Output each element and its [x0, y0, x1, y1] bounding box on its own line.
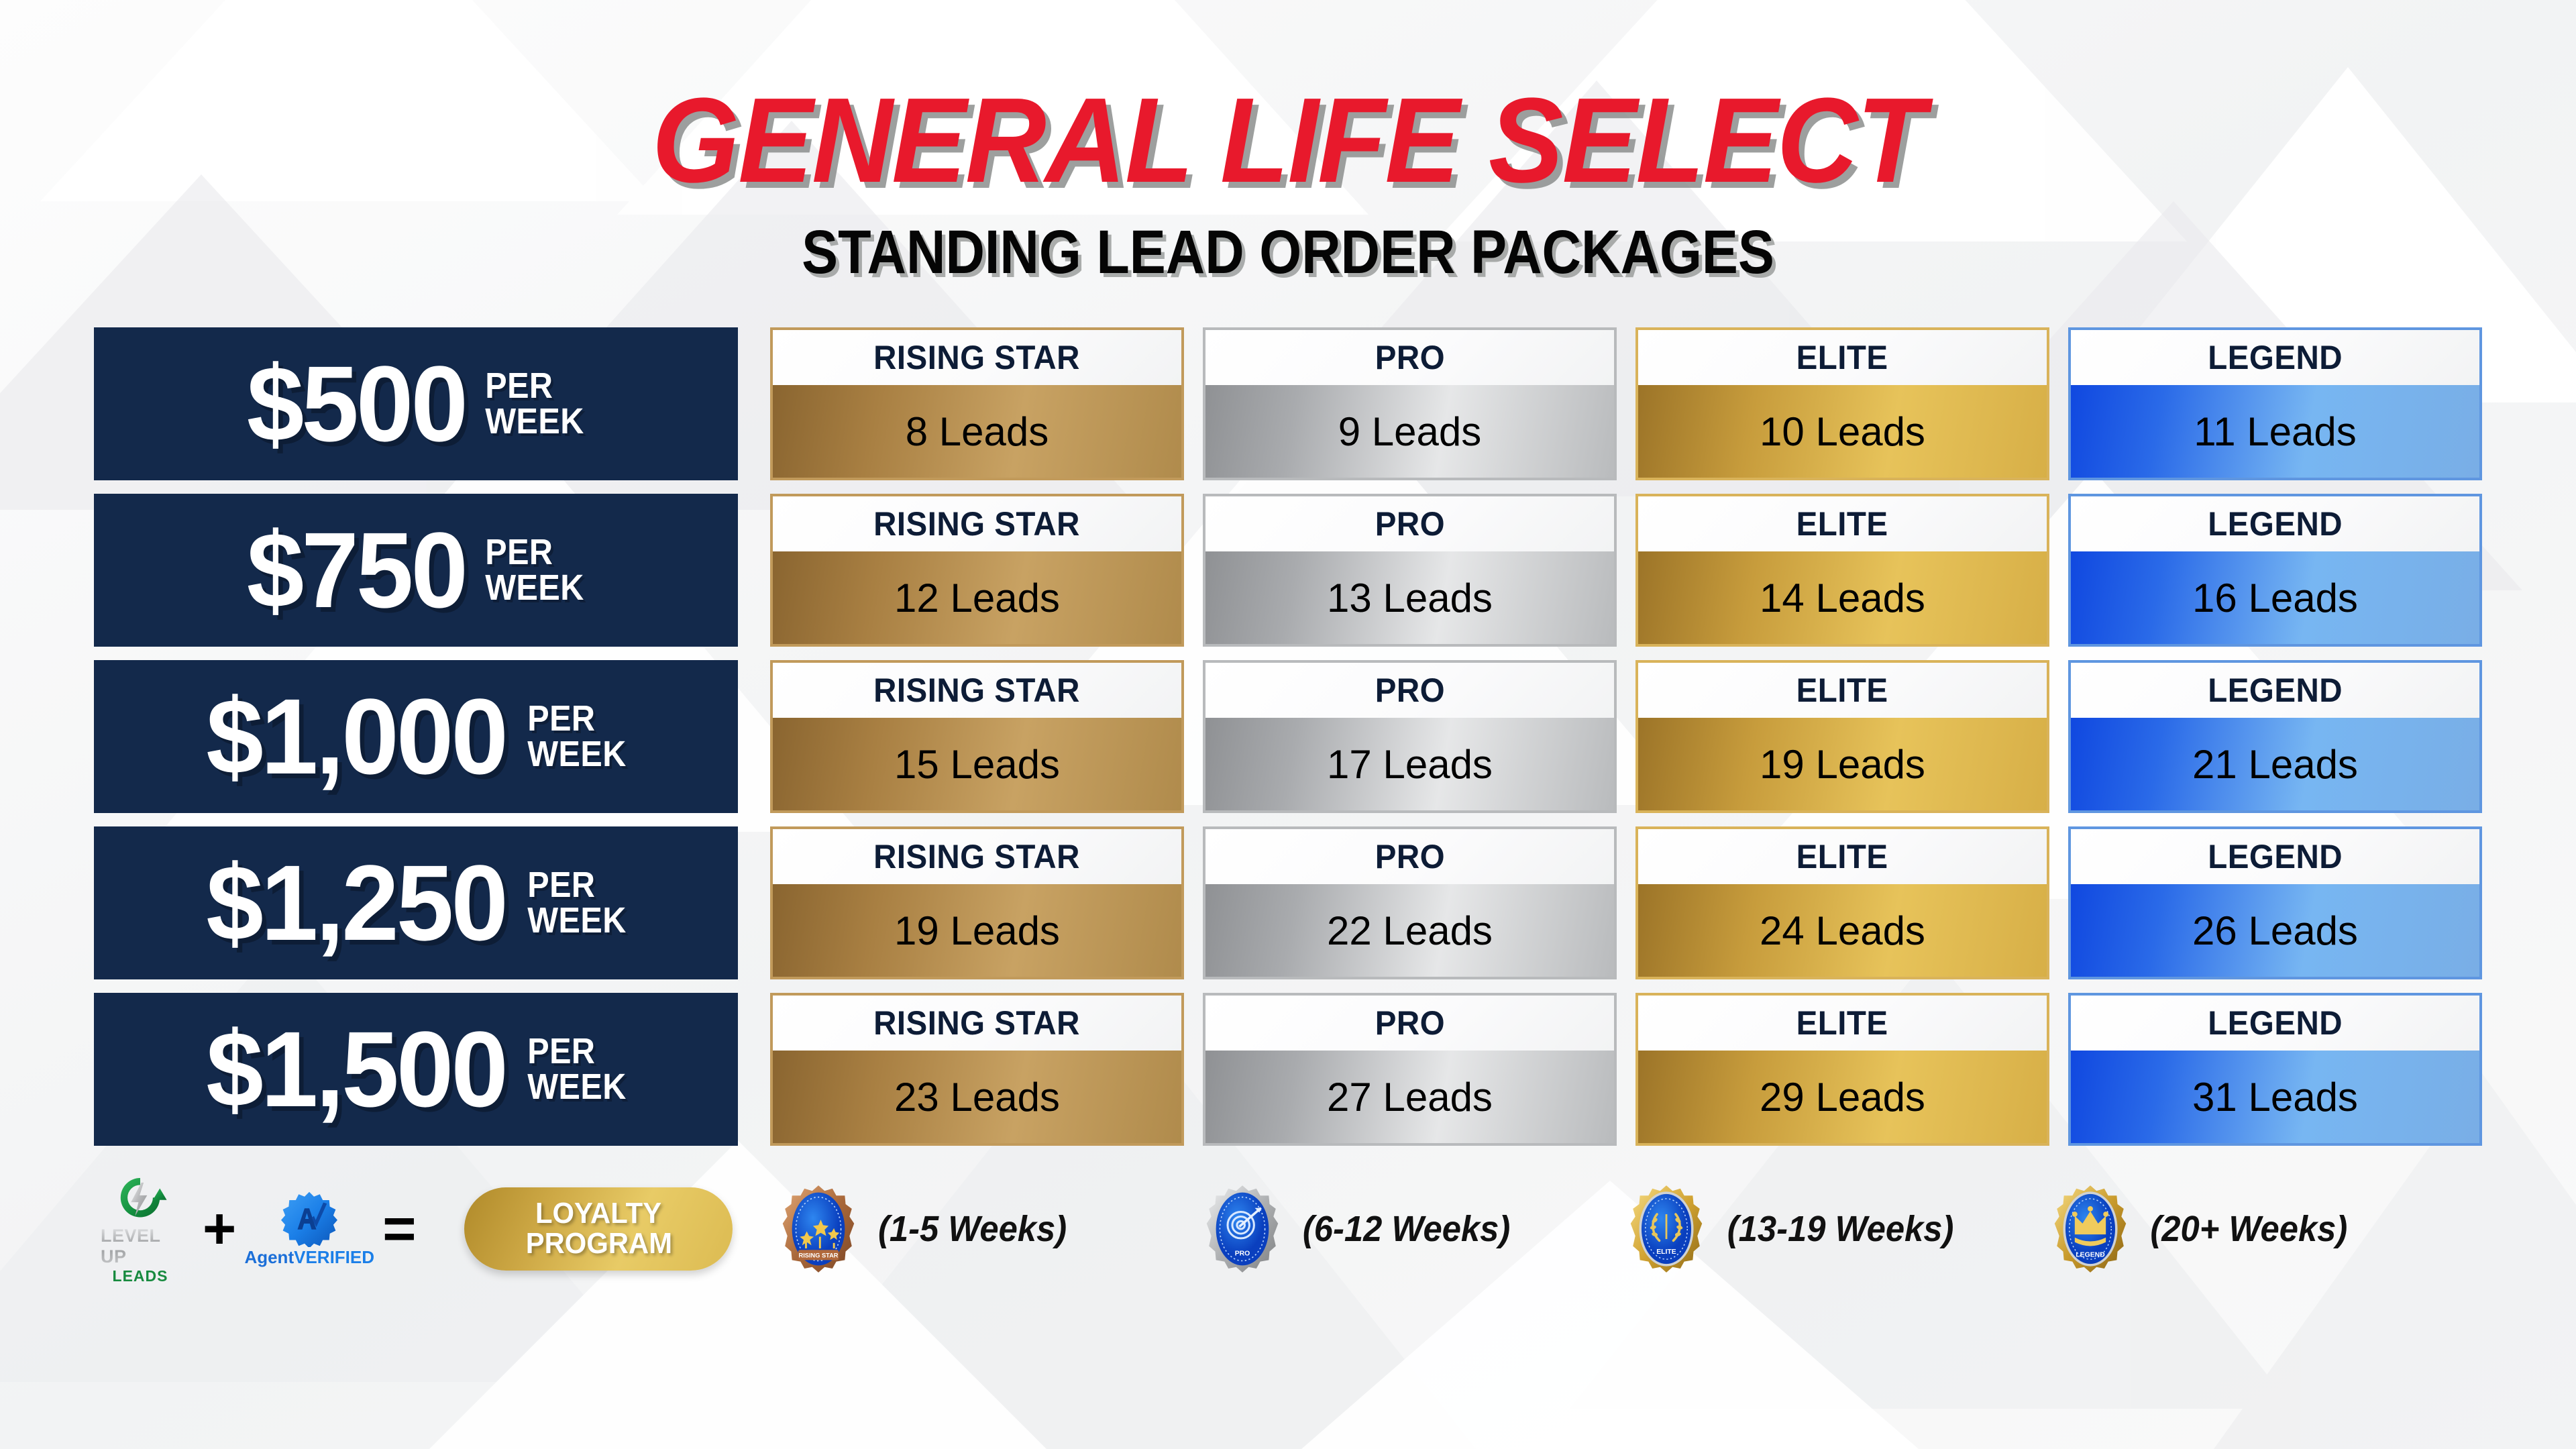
rising-star-badge-text: RISING STAR — [799, 1252, 839, 1258]
tier-card-title: ELITE — [1796, 1004, 1888, 1042]
price-period-line2: WEEK — [527, 1069, 627, 1105]
tier-card-body: 19 Leads — [1638, 718, 2047, 810]
tier-card-pro[interactable]: PRO 22 Leads — [1203, 826, 1617, 979]
rank-item-legend[interactable]: LEGEND (20+ Weeks) — [2051, 1185, 2475, 1273]
tier-card-body: 21 Leads — [2071, 718, 2479, 810]
tier-card-body: 9 Leads — [1205, 385, 1614, 478]
tier-card-header: LEGEND — [2071, 496, 2479, 551]
tier-card-pro[interactable]: PRO 9 Leads — [1203, 327, 1617, 480]
tier-card-title: LEGEND — [2208, 671, 2343, 710]
page-subtitle: STANDING LEAD ORDER PACKAGES — [154, 221, 2421, 283]
tier-card-legend[interactable]: LEGEND 11 Leads — [2068, 327, 2482, 480]
table-row: $1,000 PER WEEK RISING STAR 15 Leads — [94, 660, 2482, 813]
tier-card-elite[interactable]: ELITE 19 Leads — [1635, 660, 2049, 813]
equals-operator: = — [382, 1206, 416, 1252]
tier-card-body: 11 Leads — [2071, 385, 2479, 478]
tier-card-title: RISING STAR — [874, 1004, 1081, 1042]
tier-card-leads: 17 Leads — [1327, 741, 1493, 788]
tier-card-rising-star[interactable]: RISING STAR 12 Leads — [770, 494, 1184, 647]
price-period: PER WEEK — [485, 368, 584, 439]
infographic-page: GENERAL LIFE SELECT STANDING LEAD ORDER … — [0, 0, 2576, 1449]
pro-medal-icon: PRO — [1203, 1185, 1281, 1273]
price-cell[interactable]: $750 PER WEEK — [94, 494, 738, 647]
tier-card-header: ELITE — [1638, 663, 2047, 718]
tier-card-header: PRO — [1205, 496, 1614, 551]
rank-weeks-label: (20+ Weeks) — [2151, 1208, 2348, 1250]
tier-card-leads: 21 Leads — [2192, 741, 2358, 788]
tier-card-title: LEGEND — [2208, 504, 2343, 543]
agent-verified-logo[interactable]: AgentVERIFIED — [259, 1191, 360, 1268]
table-row: $1,250 PER WEEK RISING STAR 19 Leads — [94, 826, 2482, 979]
price-amount: $750 — [247, 517, 466, 624]
price-period: PER WEEK — [527, 701, 627, 772]
tier-card-title: ELITE — [1796, 338, 1888, 377]
tier-card-body: 29 Leads — [1638, 1051, 2047, 1143]
blue-starburst-av-badge-icon — [280, 1191, 339, 1247]
tier-card-body: 19 Leads — [773, 884, 1181, 977]
tier-card-title: PRO — [1375, 338, 1444, 377]
tier-card-title: RISING STAR — [874, 837, 1081, 876]
tier-card-header: PRO — [1205, 330, 1614, 385]
rising-star-medal-icon: RISING STAR — [780, 1185, 857, 1273]
tier-card-body: 14 Leads — [1638, 551, 2047, 644]
tier-card-body: 31 Leads — [2071, 1051, 2479, 1143]
price-cell[interactable]: $1,000 PER WEEK — [94, 660, 738, 813]
price-amount: $500 — [247, 350, 466, 458]
tier-cards: RISING STAR 12 Leads PRO 13 Leads — [770, 494, 2482, 647]
tier-card-header: ELITE — [1638, 496, 2047, 551]
tier-card-leads: 12 Leads — [894, 575, 1060, 621]
agent-verified-label: AgentVERIFIED — [244, 1247, 374, 1268]
tier-card-body: 22 Leads — [1205, 884, 1614, 977]
tier-card-leads: 19 Leads — [894, 908, 1060, 954]
legend-medal-icon: LEGEND — [2051, 1185, 2129, 1273]
price-amount: $1,250 — [207, 849, 506, 957]
tier-card-header: PRO — [1205, 663, 1614, 718]
tier-card-rising-star[interactable]: RISING STAR 23 Leads — [770, 993, 1184, 1146]
tier-card-legend[interactable]: LEGEND 31 Leads — [2068, 993, 2482, 1146]
tier-card-body: 10 Leads — [1638, 385, 2047, 478]
price-amount: $1,500 — [207, 1016, 506, 1123]
tier-card-elite[interactable]: ELITE 29 Leads — [1635, 993, 2049, 1146]
rank-item-pro[interactable]: PRO (6-12 Weeks) — [1203, 1185, 1627, 1273]
tier-card-legend[interactable]: LEGEND 26 Leads — [2068, 826, 2482, 979]
tier-card-title: RISING STAR — [874, 338, 1081, 377]
rank-weeks-label: (13-19 Weeks) — [1727, 1208, 1954, 1250]
tier-card-pro[interactable]: PRO 27 Leads — [1203, 993, 1617, 1146]
tier-card-header: RISING STAR — [773, 496, 1181, 551]
elite-badge-text: ELITE — [1657, 1248, 1677, 1256]
tier-card-pro[interactable]: PRO 13 Leads — [1203, 494, 1617, 647]
tier-card-header: RISING STAR — [773, 330, 1181, 385]
tier-card-title: LEGEND — [2208, 1004, 2343, 1042]
tier-card-body: 16 Leads — [2071, 551, 2479, 644]
tier-card-body: 27 Leads — [1205, 1051, 1614, 1143]
green-circular-arrow-with-lightning-bolt-icon — [111, 1173, 169, 1224]
header: GENERAL LIFE SELECT STANDING LEAD ORDER … — [0, 0, 2576, 283]
price-period-line2: WEEK — [527, 737, 627, 772]
tier-cards: RISING STAR 23 Leads PRO 27 Leads — [770, 993, 2482, 1146]
agent-verified-suffix: VERIFIED — [294, 1247, 374, 1267]
tier-card-body: 17 Leads — [1205, 718, 1614, 810]
tier-card-rising-star[interactable]: RISING STAR 15 Leads — [770, 660, 1184, 813]
tier-card-header: LEGEND — [2071, 996, 2479, 1051]
rank-weeks-label: (1-5 Weeks) — [878, 1208, 1067, 1250]
tier-card-body: 15 Leads — [773, 718, 1181, 810]
tier-card-leads: 19 Leads — [1760, 741, 1925, 788]
tier-card-rising-star[interactable]: RISING STAR 19 Leads — [770, 826, 1184, 979]
agent-verified-prefix: Agent — [244, 1247, 294, 1267]
tier-card-header: ELITE — [1638, 330, 2047, 385]
tier-card-body: 24 Leads — [1638, 884, 2047, 977]
tier-card-body: 26 Leads — [2071, 884, 2479, 977]
tier-card-title: RISING STAR — [874, 504, 1081, 543]
tier-card-leads: 24 Leads — [1760, 908, 1925, 954]
price-period-line2: WEEK — [485, 404, 584, 439]
tier-card-elite[interactable]: ELITE 10 Leads — [1635, 327, 2049, 480]
tier-card-leads: 29 Leads — [1760, 1074, 1925, 1120]
level-up-leads-line1: LEVEL UP — [101, 1226, 180, 1267]
tier-card-title: PRO — [1375, 671, 1444, 710]
price-period-line1: PER — [527, 1034, 627, 1069]
price-period-line1: PER — [485, 535, 584, 570]
tier-card-header: ELITE — [1638, 996, 2047, 1051]
plus-operator: + — [203, 1206, 236, 1252]
tier-cards: RISING STAR 8 Leads PRO 9 Leads — [770, 327, 2482, 480]
page-title: GENERAL LIFE SELECT — [90, 80, 2485, 201]
table-row: $750 PER WEEK RISING STAR 12 Leads — [94, 494, 2482, 647]
tier-card-title: LEGEND — [2208, 338, 2343, 377]
loyalty-program-line2: PROGRAM — [525, 1229, 672, 1259]
tier-card-title: PRO — [1375, 837, 1444, 876]
level-up-leads-line2: LEADS — [113, 1267, 168, 1285]
loyalty-program-button[interactable]: LOYALTY PROGRAM — [464, 1187, 733, 1271]
tier-card-title: LEGEND — [2208, 837, 2343, 876]
tier-card-header: RISING STAR — [773, 663, 1181, 718]
brand-equation: LEVEL UP LEADS + AgentVERIFIED = — [101, 1173, 733, 1285]
tier-card-body: 12 Leads — [773, 551, 1181, 644]
tier-card-elite[interactable]: ELITE 14 Leads — [1635, 494, 2049, 647]
price-period-line2: WEEK — [485, 570, 584, 606]
tier-card-header: PRO — [1205, 829, 1614, 884]
elite-medal-icon: ELITE — [1627, 1185, 1705, 1273]
level-up-leads-logo[interactable]: LEVEL UP LEADS — [101, 1173, 180, 1285]
price-period-line1: PER — [485, 368, 584, 404]
tier-card-leads: 8 Leads — [906, 409, 1049, 455]
tier-card-leads: 10 Leads — [1760, 409, 1925, 455]
tier-card-title: ELITE — [1796, 504, 1888, 543]
loyalty-program-line1: LOYALTY — [535, 1199, 661, 1229]
rank-item-elite[interactable]: ELITE (13-19 Weeks) — [1627, 1185, 2051, 1273]
tier-cards: RISING STAR 15 Leads PRO 17 Leads — [770, 660, 2482, 813]
tier-card-title: PRO — [1375, 504, 1444, 543]
price-period: PER WEEK — [527, 867, 627, 938]
tier-card-legend[interactable]: LEGEND 16 Leads — [2068, 494, 2482, 647]
rank-item-rising-star[interactable]: RISING STAR (1-5 Weeks) — [780, 1185, 1203, 1273]
tier-card-elite[interactable]: ELITE 24 Leads — [1635, 826, 2049, 979]
tier-card-body: 8 Leads — [773, 385, 1181, 478]
tier-card-title: ELITE — [1796, 837, 1888, 876]
tier-card-header: RISING STAR — [773, 829, 1181, 884]
tier-card-pro[interactable]: PRO 17 Leads — [1203, 660, 1617, 813]
price-period: PER WEEK — [485, 535, 584, 606]
tier-card-body: 23 Leads — [773, 1051, 1181, 1143]
tier-card-header: LEGEND — [2071, 829, 2479, 884]
legend-badge-text: LEGEND — [2076, 1252, 2105, 1259]
tier-card-header: LEGEND — [2071, 663, 2479, 718]
tier-card-title: PRO — [1375, 1004, 1444, 1042]
price-cell[interactable]: $1,500 PER WEEK — [94, 993, 738, 1146]
price-amount: $1,000 — [207, 683, 506, 790]
tier-card-rising-star[interactable]: RISING STAR 8 Leads — [770, 327, 1184, 480]
price-cell[interactable]: $1,250 PER WEEK — [94, 826, 738, 979]
price-period-line1: PER — [527, 701, 627, 737]
footer: LEVEL UP LEADS + AgentVERIFIED = — [0, 1175, 2576, 1283]
tier-card-leads: 11 Leads — [2194, 409, 2356, 455]
tier-card-leads: 27 Leads — [1327, 1074, 1493, 1120]
tier-card-legend[interactable]: LEGEND 21 Leads — [2068, 660, 2482, 813]
pricing-table: $500 PER WEEK RISING STAR 8 Leads — [0, 327, 2576, 1146]
tier-card-leads: 23 Leads — [894, 1074, 1060, 1120]
tier-card-leads: 9 Leads — [1338, 409, 1482, 455]
tier-card-title: ELITE — [1796, 671, 1888, 710]
tier-cards: RISING STAR 19 Leads PRO 22 Leads — [770, 826, 2482, 979]
price-period-line2: WEEK — [527, 903, 627, 938]
tier-card-leads: 13 Leads — [1327, 575, 1493, 621]
tier-card-leads: 31 Leads — [2192, 1074, 2358, 1120]
tier-card-leads: 16 Leads — [2192, 575, 2358, 621]
pro-badge-text: PRO — [1235, 1250, 1250, 1257]
price-period: PER WEEK — [527, 1034, 627, 1105]
tier-card-header: PRO — [1205, 996, 1614, 1051]
tier-card-header: RISING STAR — [773, 996, 1181, 1051]
tier-card-body: 13 Leads — [1205, 551, 1614, 644]
tier-card-title: RISING STAR — [874, 671, 1081, 710]
table-row: $500 PER WEEK RISING STAR 8 Leads — [94, 327, 2482, 480]
price-period-line1: PER — [527, 867, 627, 903]
price-cell[interactable]: $500 PER WEEK — [94, 327, 738, 480]
rank-legend: RISING STAR (1-5 Weeks) — [780, 1185, 2475, 1273]
tier-card-header: LEGEND — [2071, 330, 2479, 385]
tier-card-leads: 14 Leads — [1760, 575, 1925, 621]
tier-card-leads: 22 Leads — [1327, 908, 1493, 954]
table-row: $1,500 PER WEEK RISING STAR 23 Leads — [94, 993, 2482, 1146]
rank-weeks-label: (6-12 Weeks) — [1303, 1208, 1510, 1250]
tier-card-leads: 26 Leads — [2192, 908, 2358, 954]
tier-card-header: ELITE — [1638, 829, 2047, 884]
tier-card-leads: 15 Leads — [894, 741, 1060, 788]
